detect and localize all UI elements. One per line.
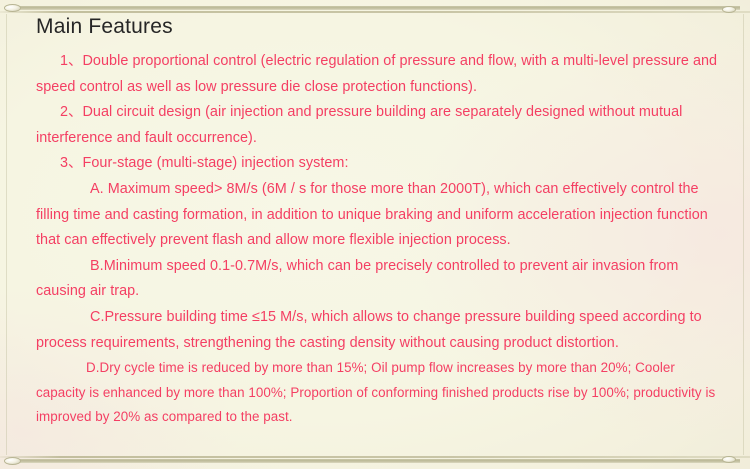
feature-item-3b: B.Minimum speed 0.1-0.7M/s, which can be… bbox=[36, 254, 732, 305]
feature-item-3: 3、Four-stage (multi-stage) injection sys… bbox=[36, 151, 732, 177]
bottom-right-ellipse-ornament-icon bbox=[722, 456, 736, 463]
bottom-left-ellipse-ornament-icon bbox=[4, 457, 21, 465]
bottom-rule bbox=[10, 459, 740, 463]
feature-item-3a: A. Maximum speed> 8M/s (6M / s for those… bbox=[36, 177, 732, 254]
content-area: Main Features 1、Double proportional cont… bbox=[0, 0, 750, 430]
feature-item-1: 1、Double proportional control (electric … bbox=[36, 49, 732, 100]
page-title: Main Features bbox=[36, 14, 732, 40]
bottom-rule-secondary bbox=[0, 456, 750, 458]
feature-item-3c: C.Pressure building time ≤15 M/s, which … bbox=[36, 305, 732, 356]
bottom-decorative-band bbox=[0, 453, 750, 469]
feature-page: Main Features 1、Double proportional cont… bbox=[0, 0, 750, 469]
feature-item-3d: D.Dry cycle time is reduced by more than… bbox=[36, 356, 732, 430]
feature-item-2: 2、Dual circuit design (air injection and… bbox=[36, 100, 732, 151]
